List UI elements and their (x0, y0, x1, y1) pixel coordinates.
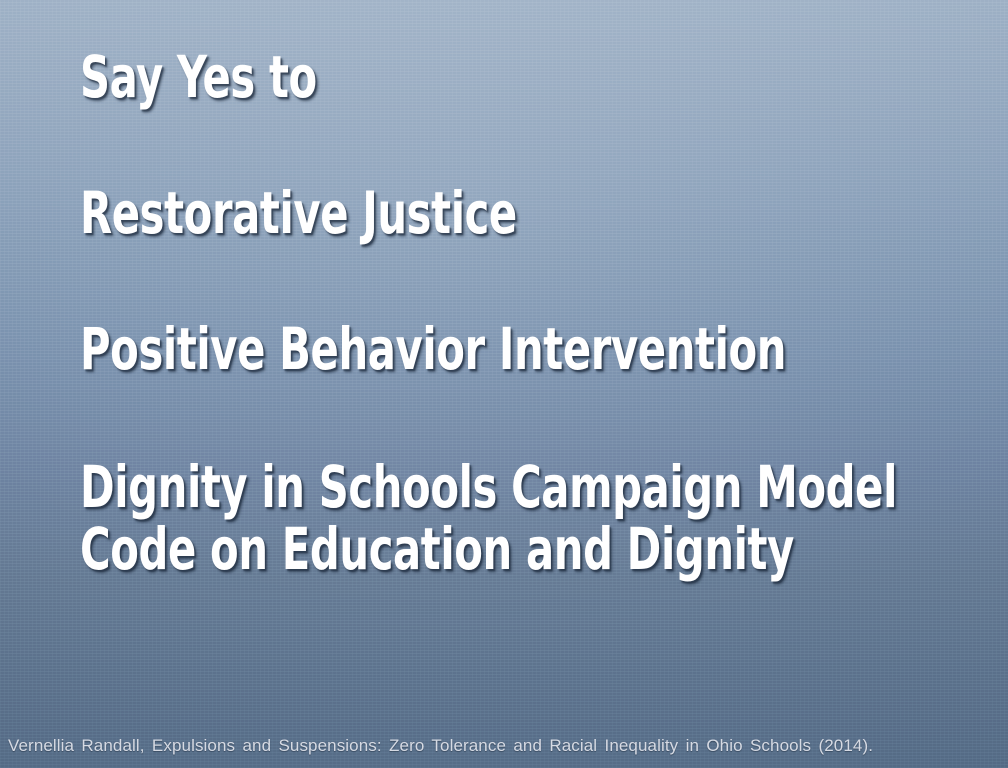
headline-line-restorative-justice: Restorative Justice (80, 182, 517, 244)
footer-citation: Vernellia Randall, Expulsions and Suspen… (8, 735, 873, 757)
presentation-slide: Say Yes to Restorative Justice Positive … (0, 0, 1008, 768)
headline-line-say-yes-to: Say Yes to (80, 46, 317, 108)
headline-line-code-on-education-and-dignity: Code on Education and Dignity (80, 518, 794, 580)
headline-line-dignity-in-schools-campaign-model: Dignity in Schools Campaign Model (80, 456, 897, 518)
headline-line-positive-behavior-intervention: Positive Behavior Intervention (80, 318, 786, 380)
